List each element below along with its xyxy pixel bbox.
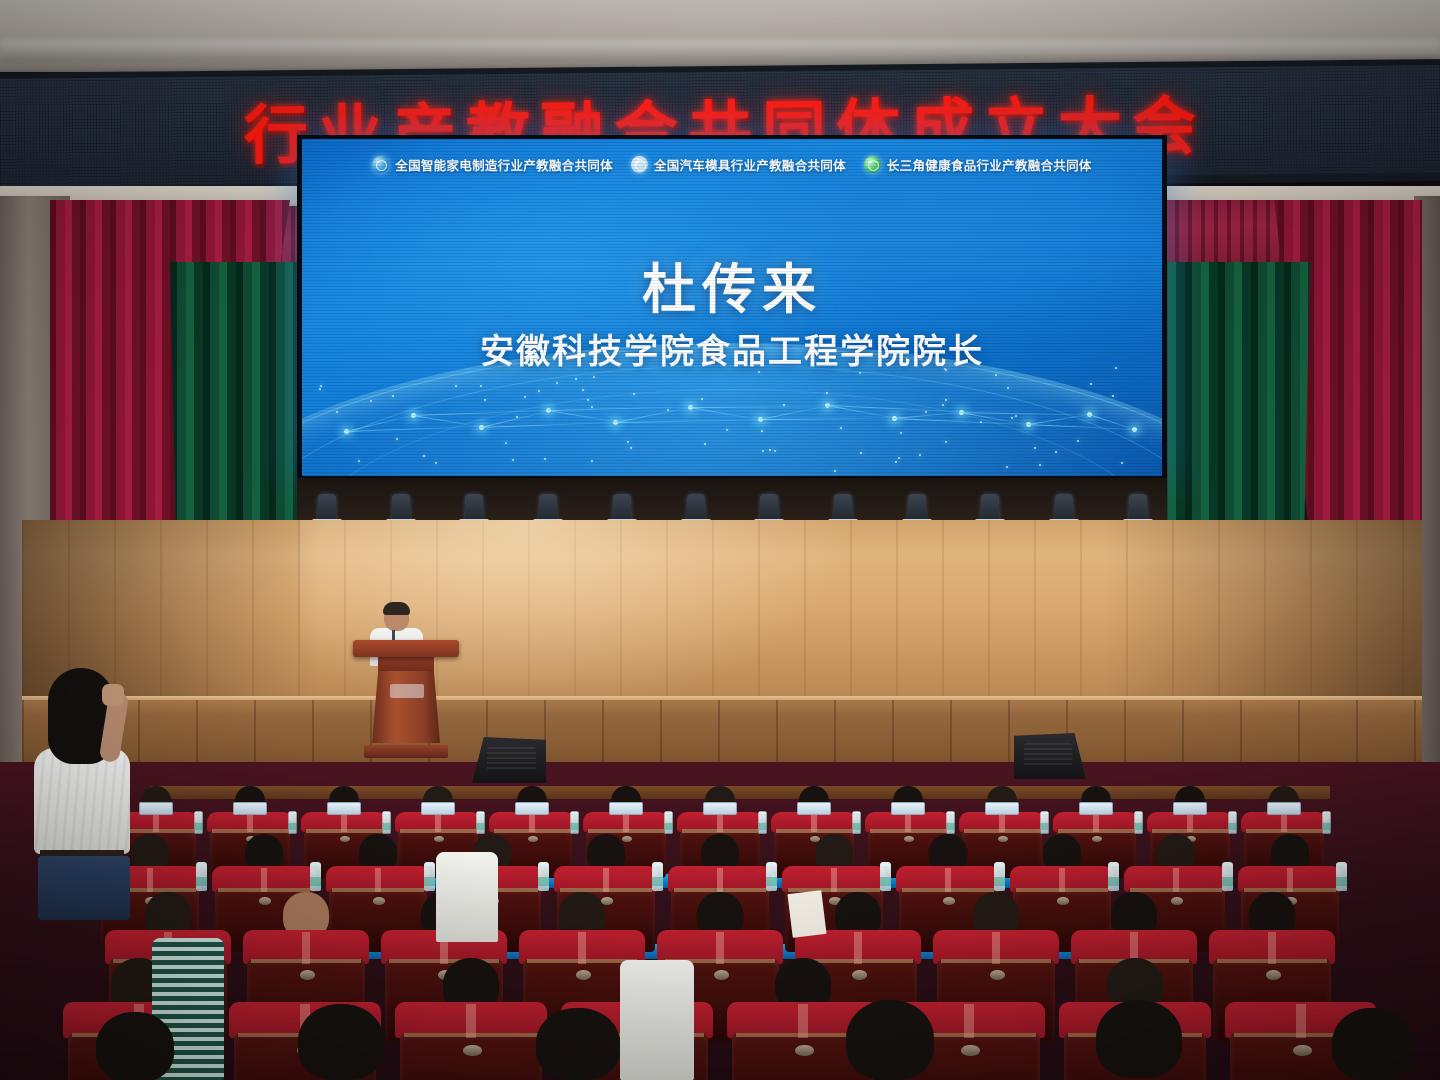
seat-tab [945, 868, 951, 892]
seat-medallion [259, 897, 271, 905]
name-placard [703, 802, 737, 815]
water-bottle [766, 862, 777, 891]
network-spark [945, 441, 947, 443]
network-spark [1112, 395, 1114, 397]
water-bottle [382, 811, 391, 834]
seat-tab [1281, 813, 1286, 831]
seat-tab [466, 1004, 475, 1038]
attendee-light-shirt [620, 960, 694, 1080]
network-spark [516, 416, 518, 418]
name-placard [515, 802, 549, 815]
seat-medallion [622, 836, 632, 842]
network-spark [900, 432, 902, 434]
name-placard [1267, 802, 1301, 815]
network-spark [1015, 415, 1017, 417]
seat-tab [964, 1004, 973, 1038]
water-bottle [1222, 862, 1233, 891]
attendee-white-shirt [436, 852, 498, 942]
seat-medallion [1057, 897, 1069, 905]
seat-medallion [1171, 897, 1183, 905]
seat-tab [435, 813, 440, 831]
monitor-grill-left [487, 747, 536, 772]
water-bottle [1108, 862, 1119, 891]
network-spark [945, 399, 947, 401]
podium-neck [378, 657, 434, 671]
seat-medallion [463, 1045, 481, 1056]
name-placard [139, 802, 173, 815]
network-spark [826, 392, 828, 394]
water-bottle [994, 862, 1005, 891]
globe-icon [372, 156, 389, 173]
seat-tab [905, 813, 910, 831]
seat-tab [1093, 813, 1098, 831]
network-spark [627, 441, 629, 443]
speaker-title-text: 安徽科技学院食品工程学院院长 [302, 324, 1162, 373]
water-bottle [570, 811, 579, 834]
network-spark [320, 385, 322, 387]
seat-medallion [373, 897, 385, 905]
network-spark [392, 395, 394, 397]
network-spark [591, 406, 593, 408]
document-paper [787, 890, 826, 938]
network-spark [575, 378, 577, 380]
screen-logo-row: 全国智能家电制造行业产教融合共同体 全国汽车模具行业产教融合共同体 长三角健康食… [302, 155, 1162, 174]
water-bottle [196, 862, 207, 891]
name-placard [985, 802, 1019, 815]
name-placard [609, 802, 643, 815]
stage-monitor-right [1014, 733, 1086, 779]
seat-tab [992, 932, 1000, 963]
logo-label-2: 全国汽车模具行业产教融合共同体 [654, 155, 846, 174]
logo-label-1: 全国智能家电制造行业产教融合共同体 [395, 155, 613, 174]
seat-medallion [904, 836, 914, 842]
water-bottle [1040, 811, 1049, 834]
seat-medallion [943, 897, 955, 905]
speaker-name-text: 杜传来 [302, 245, 1162, 324]
seat-tab [798, 1004, 807, 1038]
podium-nameplate [390, 684, 424, 698]
water-bottle [288, 811, 297, 834]
seat-tab [717, 813, 722, 831]
seat-medallion [1293, 1045, 1311, 1056]
seat-tab [1059, 868, 1065, 892]
woman-taking-photo [26, 668, 138, 918]
network-spark [860, 452, 862, 454]
seat-tab [341, 813, 346, 831]
network-spark [834, 470, 836, 472]
target-icon [631, 156, 648, 173]
network-spark [895, 461, 897, 463]
water-bottle [852, 811, 861, 834]
network-spark [701, 398, 703, 400]
name-placard [233, 802, 267, 815]
seat-medallion [998, 836, 1008, 842]
network-spark [898, 457, 900, 459]
seat-medallion [1092, 836, 1102, 842]
network-spark [633, 393, 635, 395]
foreground-audience-head [536, 1008, 620, 1080]
network-spark [667, 409, 669, 411]
seat-tab [302, 932, 310, 963]
logo-label-3: 长三角健康食品行业产教融合共同体 [887, 155, 1092, 174]
conference-hall-photo: 行业产教融合共同体成立大会 全国智能家电制造行业产教融合共同体 全国 [0, 0, 1440, 1080]
seat-medallion [528, 836, 538, 842]
seat-medallion [795, 1045, 813, 1056]
network-spark [538, 390, 540, 392]
water-bottle [652, 862, 663, 891]
water-bottle [664, 811, 673, 834]
seat-tab [529, 813, 534, 831]
name-placard [891, 802, 925, 815]
network-spark [396, 438, 398, 440]
water-bottle [538, 862, 549, 891]
water-bottle [1228, 811, 1237, 834]
network-spark [774, 450, 776, 452]
seat-tab [375, 868, 381, 892]
foreground-audience-head [846, 1000, 934, 1080]
seat-tab [603, 868, 609, 892]
network-spark [435, 462, 437, 464]
network-spark [484, 399, 486, 401]
seat-tab [578, 932, 586, 963]
network-spark [455, 385, 457, 387]
photographer-jeans [38, 856, 130, 920]
seat-tab [1187, 813, 1192, 831]
seat-tab [854, 932, 862, 963]
water-bottle [310, 862, 321, 891]
presenter-hair [383, 602, 410, 615]
logo-item-3: 长三角健康食品行业产教融合共同体 [864, 155, 1092, 174]
network-spark [336, 411, 338, 413]
leaf-icon [864, 156, 881, 173]
seat-tab [717, 868, 723, 892]
name-placard [1079, 802, 1113, 815]
seat-medallion [434, 836, 444, 842]
seat-tab [811, 813, 816, 831]
seat-tab [1287, 868, 1293, 892]
network-spark [1090, 383, 1092, 385]
network-spark [505, 442, 507, 444]
stage-monitor-left [472, 737, 546, 783]
stage-foot-lights [310, 478, 1155, 526]
network-spark [512, 459, 514, 461]
seat-tab [623, 813, 628, 831]
stage-led-screen: 全国智能家电制造行业产教融合共同体 全国汽车模具行业产教融合共同体 长三角健康食… [297, 135, 1167, 480]
name-placard [1173, 802, 1207, 815]
seat-tab [1173, 868, 1179, 892]
network-spark [358, 460, 360, 462]
audience-seat [395, 1002, 547, 1080]
network-spark [319, 388, 321, 390]
logo-item-1: 全国智能家电制造行业产教融合共同体 [372, 155, 613, 174]
podium-top [353, 640, 459, 657]
water-bottle [194, 811, 203, 834]
network-spark [925, 411, 927, 413]
seat-medallion [340, 836, 350, 842]
network-spark [544, 458, 546, 460]
foreground-audience-head [298, 1004, 384, 1080]
name-placard [327, 802, 361, 815]
foreground-audience-head [1096, 1000, 1182, 1078]
logo-item-2: 全国汽车模具行业产教融合共同体 [631, 155, 846, 174]
network-spark [995, 374, 997, 376]
seat-medallion [961, 1045, 979, 1056]
seat-tab [1268, 932, 1276, 963]
foreground-audience-head [1332, 1008, 1412, 1080]
rear-wood-panel [150, 786, 1330, 799]
seat-tab [999, 813, 1004, 831]
seat-back [400, 1033, 543, 1080]
seat-tab [153, 813, 158, 831]
podium-base [364, 745, 448, 758]
seat-tab [1296, 1004, 1305, 1038]
name-placard [421, 802, 455, 815]
seat-tab [247, 813, 252, 831]
name-placard [797, 802, 831, 815]
seat-tab [147, 868, 153, 892]
screen-surface: 全国智能家电制造行业产教融合共同体 全国汽车模具行业产教融合共同体 长三角健康食… [302, 139, 1162, 476]
water-bottle [758, 811, 767, 834]
network-spark [726, 429, 728, 431]
water-bottle [424, 862, 435, 891]
water-bottle [1134, 811, 1143, 834]
seat-tab [261, 868, 267, 892]
speaker-podium [362, 640, 450, 758]
foreground-audience-head [96, 1012, 174, 1080]
stage-floor-shadow-right [1102, 520, 1422, 720]
water-bottle [880, 862, 891, 891]
monitor-grill-right [1024, 743, 1072, 768]
network-spark [919, 454, 921, 456]
water-bottle [476, 811, 485, 834]
water-bottle [946, 811, 955, 834]
photographer-hand-with-phone [102, 684, 124, 706]
seat-tab [831, 868, 837, 892]
water-bottle [1336, 862, 1347, 891]
seat-tab [716, 932, 724, 963]
podium-body [372, 671, 440, 743]
network-spark [761, 430, 763, 432]
water-bottle [1322, 811, 1331, 834]
